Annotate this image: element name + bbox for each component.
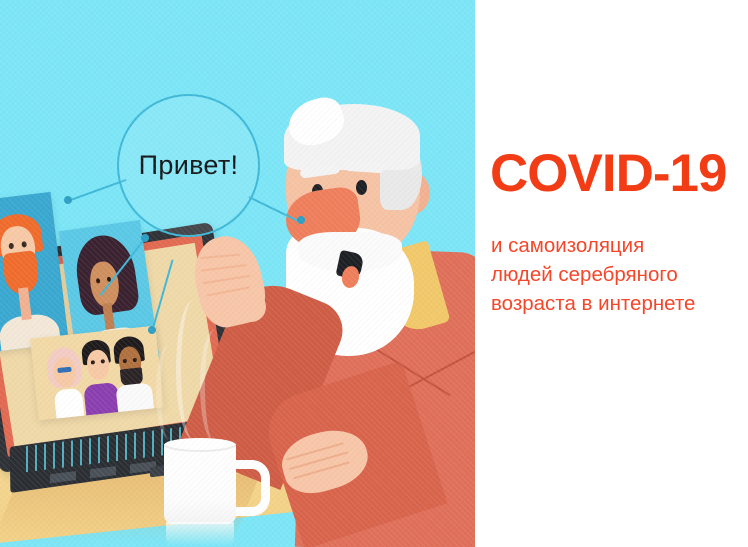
text-panel: COVID-19 и самоизоляция людей серебряног… bbox=[475, 0, 748, 547]
mug-handle bbox=[231, 460, 270, 516]
connector-dot-4 bbox=[297, 216, 305, 224]
subtitle-line-2: людей серебряного bbox=[491, 260, 741, 289]
poster-canvas: Привет! bbox=[0, 0, 748, 547]
steam-wisp-3 bbox=[156, 344, 183, 440]
speech-bubble-text: Привет! bbox=[139, 150, 239, 181]
steam-wisp-2 bbox=[200, 330, 229, 442]
mug-reflection bbox=[166, 522, 234, 546]
mug-body bbox=[164, 442, 236, 524]
mug-rim bbox=[164, 438, 236, 452]
connector-line-1 bbox=[68, 179, 127, 202]
connector-dot-2 bbox=[141, 234, 149, 242]
video-window-redhead-man[interactable] bbox=[0, 192, 69, 352]
connector-dot-3 bbox=[148, 326, 156, 334]
illustration-panel: Привет! bbox=[0, 0, 475, 547]
eye-right bbox=[356, 180, 367, 195]
subtitle-line-3: возраста в интернете bbox=[491, 289, 741, 318]
speech-bubble: Привет! bbox=[117, 94, 260, 237]
connector-dot-1 bbox=[64, 196, 72, 204]
subtitle-line-1: и самоизоляция bbox=[491, 231, 741, 260]
thumb bbox=[236, 292, 266, 322]
subtitle-block: и самоизоляция людей серебряного возраст… bbox=[491, 231, 741, 318]
covid-title: COVID-19 bbox=[490, 147, 748, 200]
video-window-group-call[interactable] bbox=[30, 326, 164, 421]
neck bbox=[18, 287, 32, 320]
